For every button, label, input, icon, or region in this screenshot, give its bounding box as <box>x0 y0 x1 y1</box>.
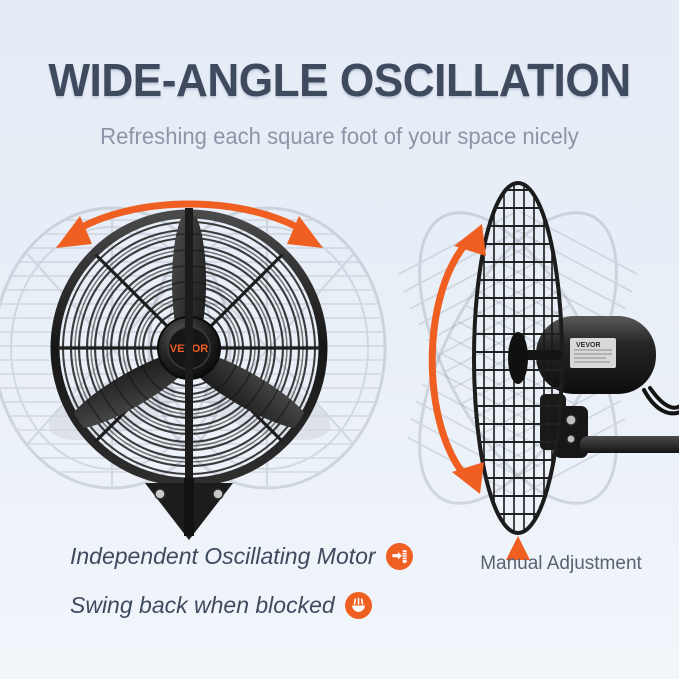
caption-manual-adjustment: Manual Adjustment <box>466 553 656 575</box>
airflow-grille-icon <box>386 543 413 570</box>
caption-swing-back: Swing back when blocked <box>70 592 372 619</box>
right-fan-illustration: VEVOR <box>418 168 679 563</box>
wall-mount-bracket <box>145 478 233 540</box>
swing-back-icon <box>345 592 372 619</box>
wall-mount-arm <box>580 436 679 453</box>
left-fan-illustration: VEVOR <box>0 178 387 548</box>
motor-label-brand: VEVOR <box>576 342 601 349</box>
page-subtitle: Refreshing each square foot of your spac… <box>14 121 666 151</box>
page-title: WIDE-ANGLE OSCILLATION <box>14 54 666 106</box>
fan-cage-front: VEVOR <box>55 208 323 498</box>
caption-oscillating-motor: Independent Oscillating Motor <box>70 543 413 570</box>
power-cord <box>644 388 679 413</box>
caption-swing-back-label: Swing back when blocked <box>70 592 335 619</box>
caption-oscillating-motor-label: Independent Oscillating Motor <box>70 543 376 570</box>
product-feature-banner: WIDE-ANGLE OSCILLATION Refreshing each s… <box>0 0 679 679</box>
